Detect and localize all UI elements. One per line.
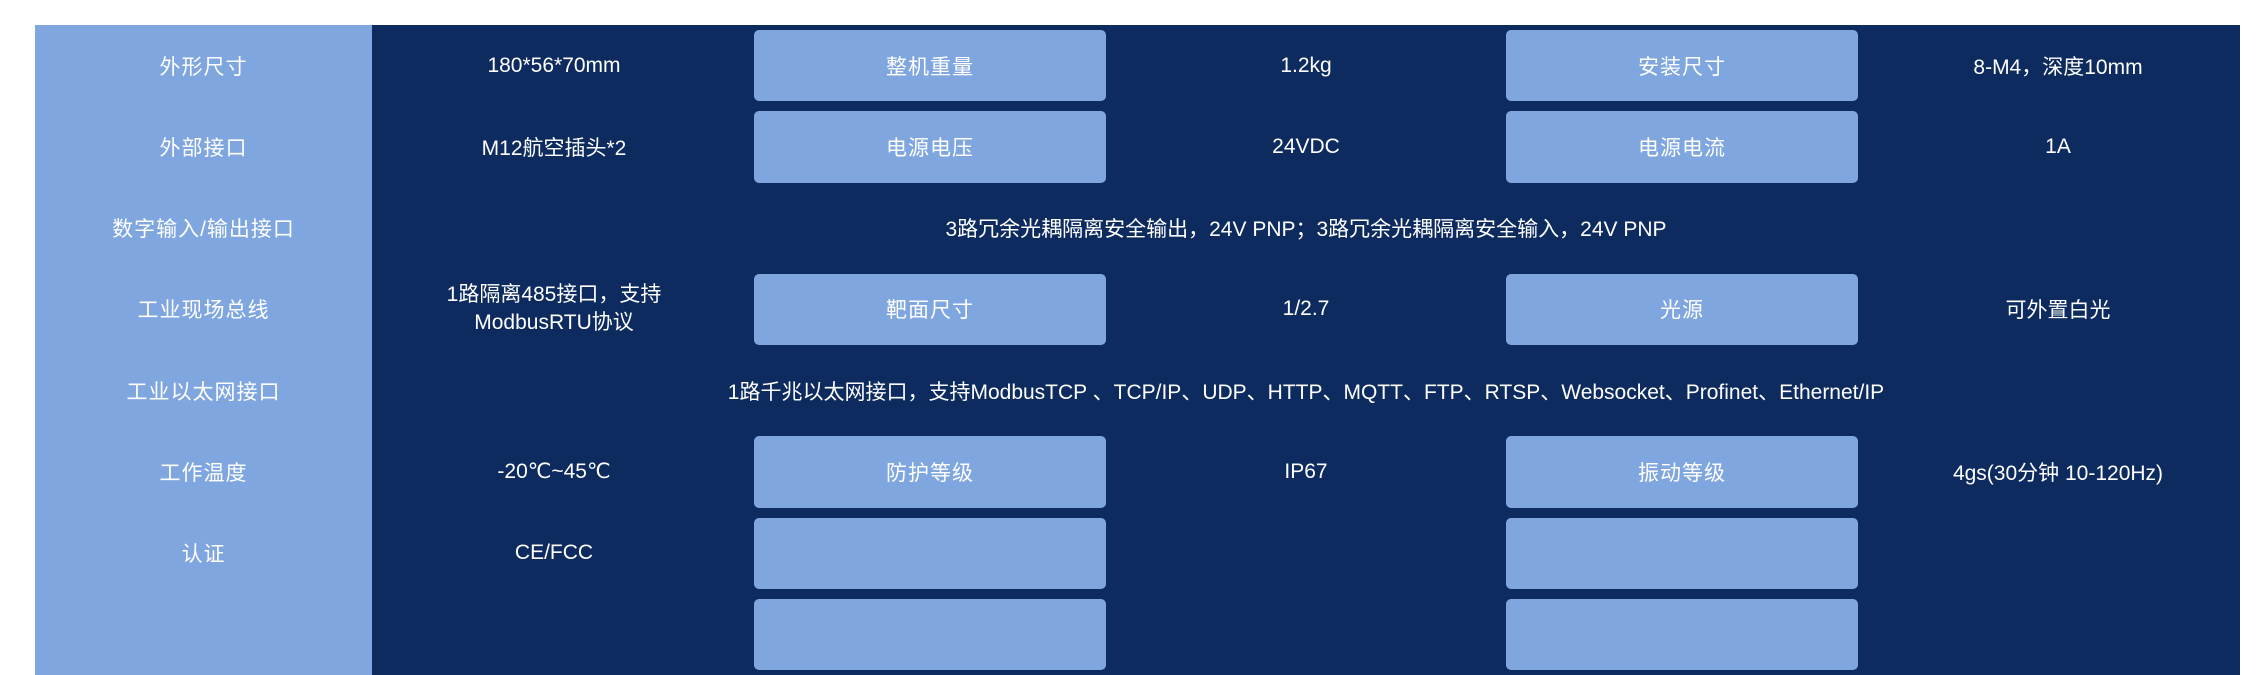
spec-merged-value: 3路冗余光耦隔离安全输出，24V PNP；3路冗余光耦隔离安全输入，24V PN…	[372, 188, 2240, 269]
spec-value-cell	[372, 594, 736, 675]
spec-label-cell: 数字输入/输出接口	[35, 188, 372, 269]
spec-subheader-label: 光源	[1506, 274, 1858, 345]
spec-value-row: 1路隔离485接口，支持ModbusRTU协议靶面尺寸1/2.7光源可外置白光	[372, 269, 2240, 350]
spec-value-cell: 4gs(30分钟 10-120Hz)	[1876, 431, 2240, 512]
spec-label-cell: 工业以太网接口	[35, 350, 372, 431]
spec-value-row	[372, 594, 2240, 675]
spec-subheader-cell: 振动等级	[1488, 431, 1876, 512]
spec-subheader-label: 防护等级	[754, 436, 1106, 507]
spec-value-cell: 1路隔离485接口，支持ModbusRTU协议	[372, 269, 736, 350]
spec-label-cell: 工作温度	[35, 431, 372, 512]
spec-subheader-label	[754, 518, 1106, 589]
spec-subheader-cell	[736, 513, 1124, 594]
spec-subheader-label: 振动等级	[1506, 436, 1858, 507]
spec-subheader-cell	[1488, 594, 1876, 675]
spec-subheader-cell	[736, 594, 1124, 675]
spec-subheader-cell: 电源电压	[736, 106, 1124, 187]
spec-value-cell	[1876, 513, 2240, 594]
spec-subheader-label	[754, 599, 1106, 670]
spec-value-cell	[1876, 594, 2240, 675]
spec-subheader-cell: 安装尺寸	[1488, 25, 1876, 106]
spec-value-row: -20℃~45℃防护等级IP67振动等级4gs(30分钟 10-120Hz)	[372, 431, 2240, 512]
spec-value-cell	[1124, 594, 1488, 675]
spec-value-cell: -20℃~45℃	[372, 431, 736, 512]
spec-value-cell: CE/FCC	[372, 513, 736, 594]
spec-subheader-label: 靶面尺寸	[754, 274, 1106, 345]
spec-label-cell: 外形尺寸	[35, 25, 372, 106]
spec-subheader-label: 电源电流	[1506, 111, 1858, 182]
spec-subheader-label: 安装尺寸	[1506, 30, 1858, 101]
spec-value-cell: 180*56*70mm	[372, 25, 736, 106]
spec-subheader-cell: 防护等级	[736, 431, 1124, 512]
spec-subheader-label	[1506, 518, 1858, 589]
spec-subheader-cell: 光源	[1488, 269, 1876, 350]
spec-subheader-cell: 整机重量	[736, 25, 1124, 106]
spec-value-row: M12航空插头*2电源电压24VDC电源电流1A	[372, 106, 2240, 187]
spec-value-row: 180*56*70mm整机重量1.2kg安装尺寸8-M4，深度10mm	[372, 25, 2240, 106]
spec-merged-value: 1路千兆以太网接口，支持ModbusTCP 、TCP/IP、UDP、HTTP、M…	[372, 350, 2240, 431]
spec-value-row: CE/FCC	[372, 513, 2240, 594]
spec-label-cell: 认证	[35, 513, 372, 594]
spec-value-cell: 1.2kg	[1124, 25, 1488, 106]
spec-value-cell: 1/2.7	[1124, 269, 1488, 350]
spec-label-cell: 外部接口	[35, 106, 372, 187]
spec-value-cell: 24VDC	[1124, 106, 1488, 187]
spec-subheader-label	[1506, 599, 1858, 670]
spec-value-cell: 1A	[1876, 106, 2240, 187]
spec-subheader-cell: 电源电流	[1488, 106, 1876, 187]
spec-value-cell: 8-M4，深度10mm	[1876, 25, 2240, 106]
spec-label-cell: 工业现场总线	[35, 269, 372, 350]
spec-value-cell	[1124, 513, 1488, 594]
spec-value-cell: IP67	[1124, 431, 1488, 512]
spec-subheader-cell	[1488, 513, 1876, 594]
spec-value-cell: M12航空插头*2	[372, 106, 736, 187]
spec-value-cell: 可外置白光	[1876, 269, 2240, 350]
spec-label-column: 外形尺寸外部接口数字输入/输出接口工业现场总线工业以太网接口工作温度认证	[35, 25, 372, 675]
spec-subheader-cell: 靶面尺寸	[736, 269, 1124, 350]
spec-value-row: 1路千兆以太网接口，支持ModbusTCP 、TCP/IP、UDP、HTTP、M…	[372, 350, 2240, 431]
spec-value-row: 3路冗余光耦隔离安全输出，24V PNP；3路冗余光耦隔离安全输入，24V PN…	[372, 188, 2240, 269]
spec-value-area: 180*56*70mm整机重量1.2kg安装尺寸8-M4，深度10mmM12航空…	[372, 25, 2240, 675]
specification-table: 外形尺寸外部接口数字输入/输出接口工业现场总线工业以太网接口工作温度认证 180…	[35, 25, 2240, 675]
spec-label-cell	[35, 594, 372, 675]
spec-subheader-label: 整机重量	[754, 30, 1106, 101]
spec-subheader-label: 电源电压	[754, 111, 1106, 182]
